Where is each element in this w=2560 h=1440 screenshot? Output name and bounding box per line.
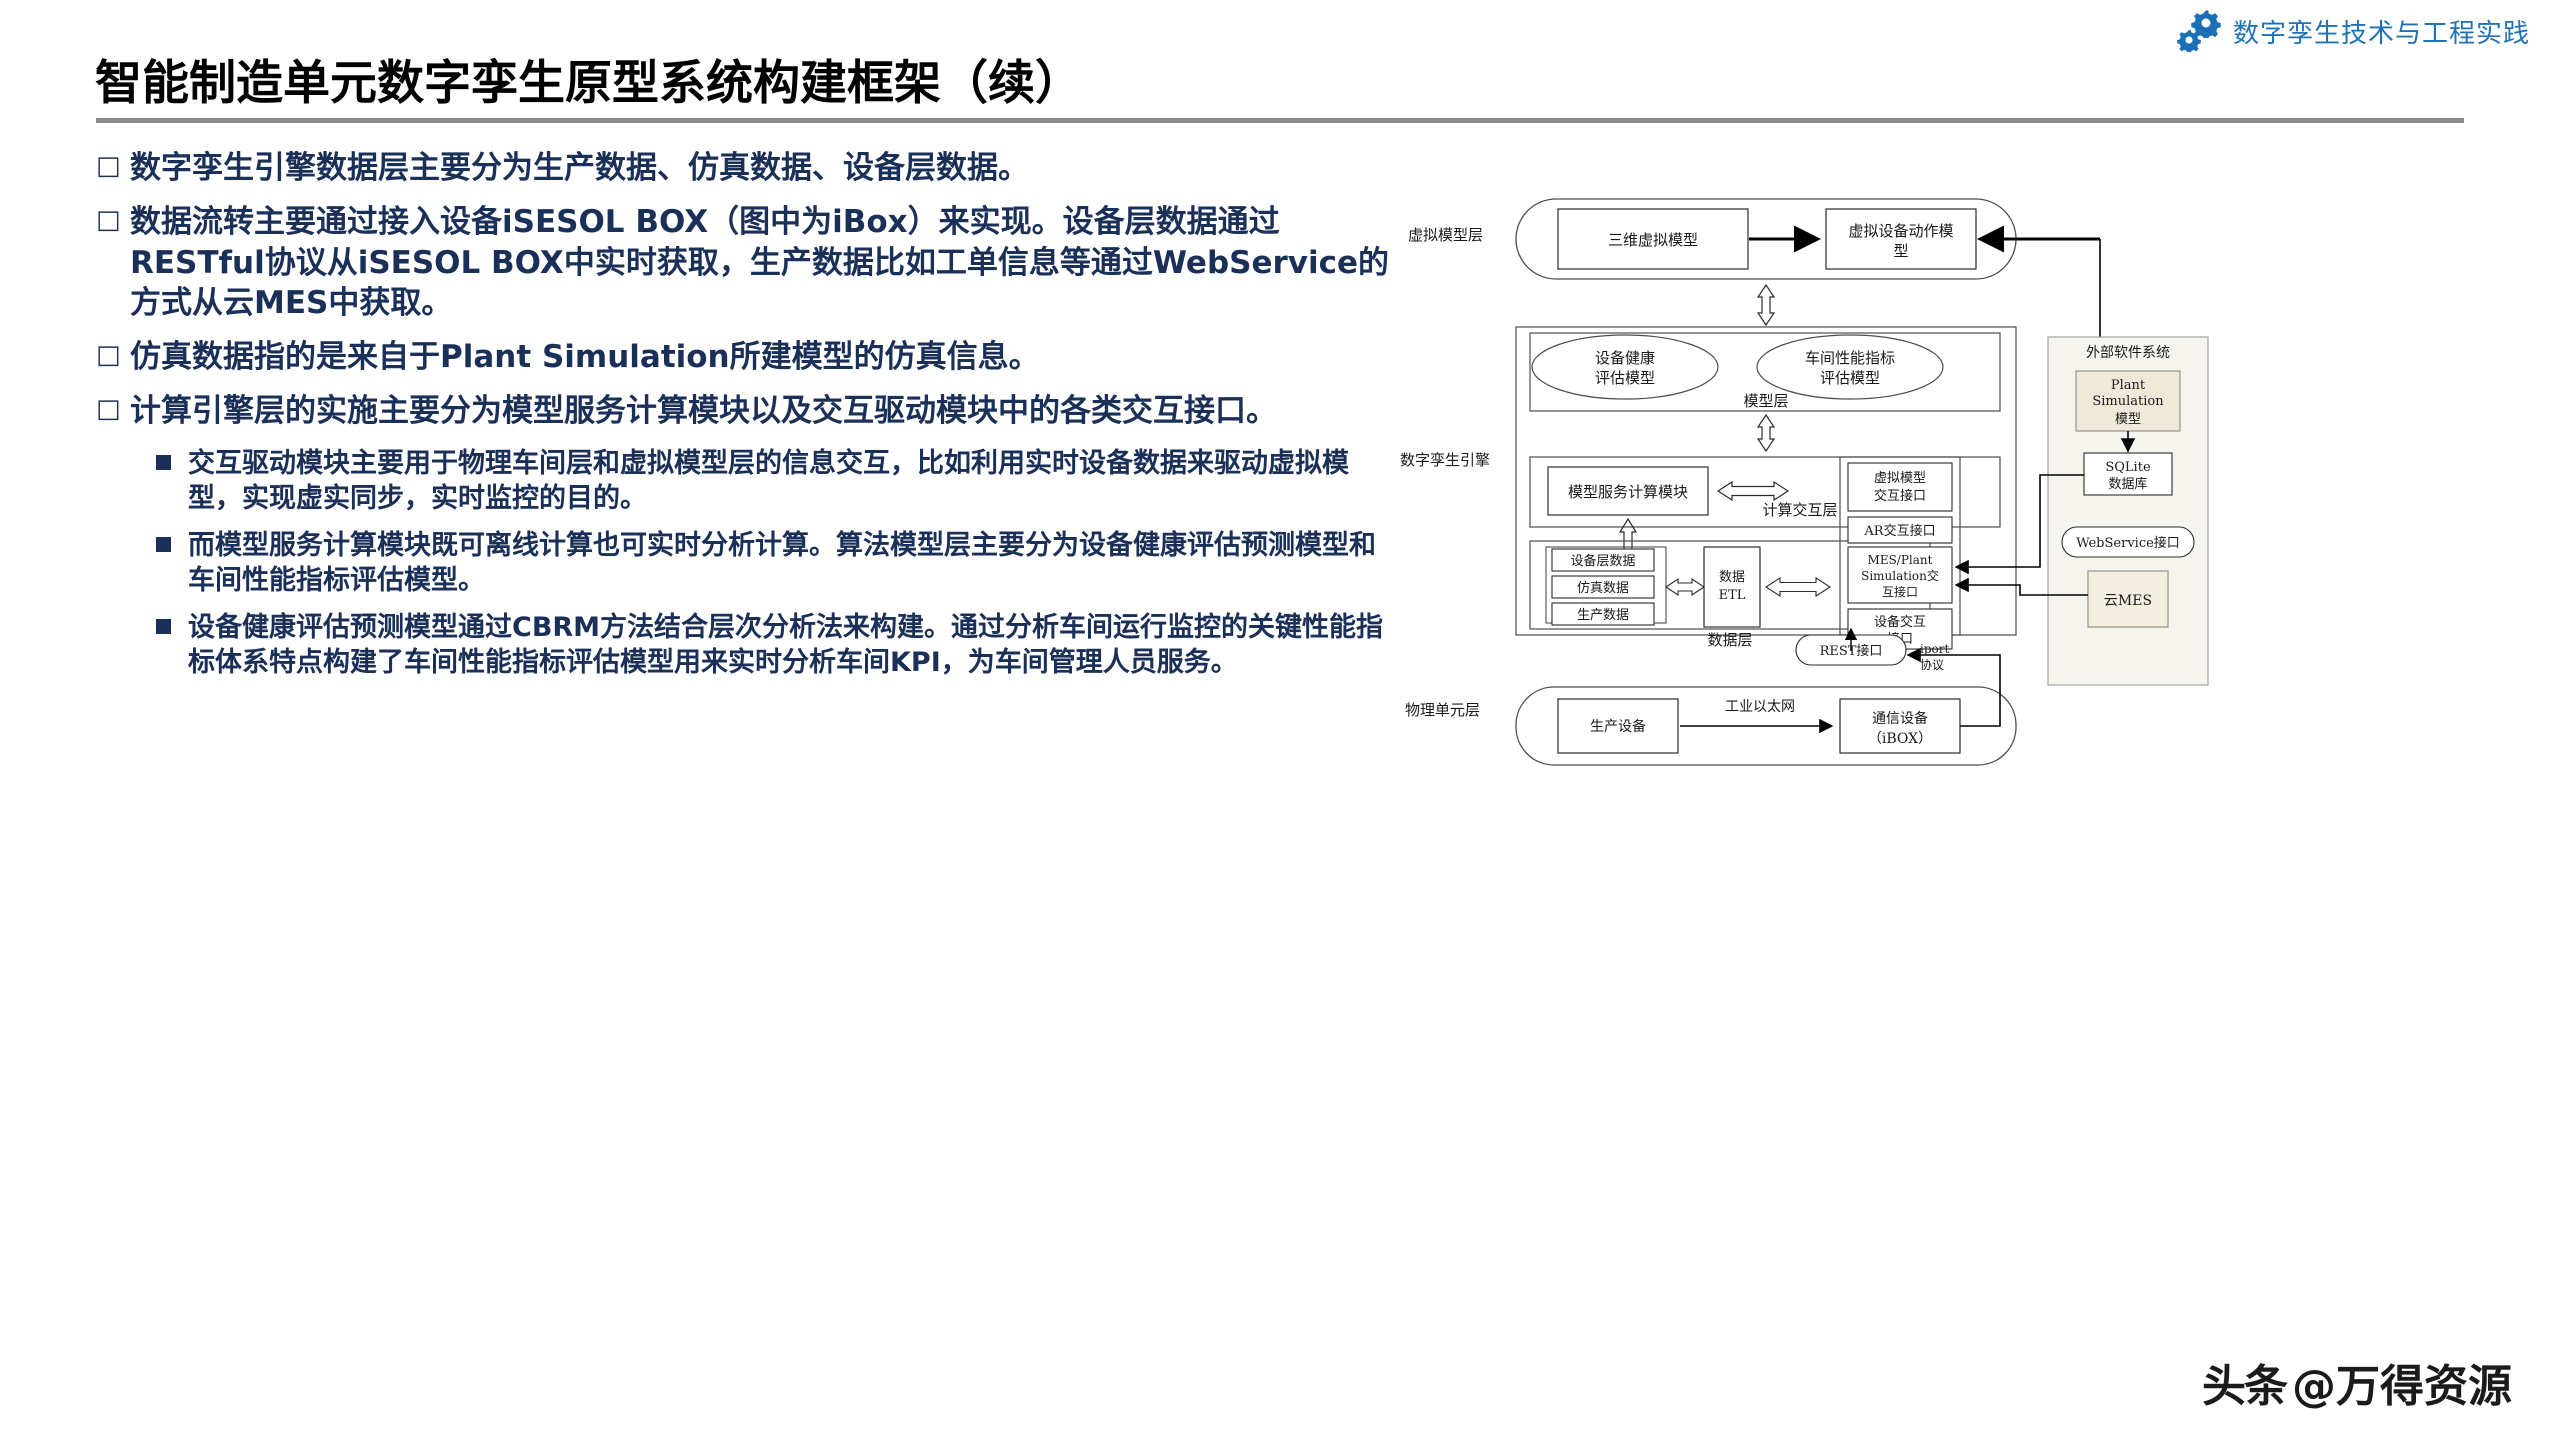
sub-bullet-marker-filled-square-icon xyxy=(156,446,188,470)
title-divider xyxy=(96,118,2464,123)
iport-protocol-label-l1: iport xyxy=(1920,642,1949,656)
architecture-diagram: 虚拟模型层 数字孪生引擎 物理单元层 三维虚拟模型 虚拟设备动作模 型 设备健康… xyxy=(1400,175,2530,795)
box-communication-device-l1: 通信设备 xyxy=(1872,710,1928,727)
box-virtual-model-interface-l1: 虚拟模型 xyxy=(1874,471,1926,486)
arrow-data-to-etl xyxy=(1666,579,1704,595)
box-mes-plantsim-interface-l2: Simulation交 xyxy=(1861,568,1939,583)
ellipse-workshop-kpi-model-l2: 评估模型 xyxy=(1820,369,1880,387)
bullet-item: □ 仿真数据指的是来自于Plant Simulation所建模型的仿真信息。 xyxy=(96,337,1396,377)
gear-icon xyxy=(2177,8,2223,54)
arrow-compute-to-interfaces xyxy=(1718,482,1788,500)
box-cloud-mes-label: 云MES xyxy=(2104,593,2152,609)
box-communication-device-l2: （iBOX） xyxy=(1868,731,1932,747)
box-plant-simulation-model-l1: Plant xyxy=(2111,378,2146,393)
sub-bullet-item: 设备健康评估预测模型通过CBRM方法结合层次分析法来构建。通过分析车间运行监控的… xyxy=(156,610,1396,680)
box-simulation-data-label: 仿真数据 xyxy=(1577,581,1629,596)
box-data-etl-l1: 数据 xyxy=(1719,570,1745,585)
sub-bullet-item: 而模型服务计算模块既可离线计算也可实时分析计算。算法模型层主要分为设备健康评估预… xyxy=(156,528,1396,598)
arrow-etl-to-interfaces xyxy=(1766,578,1830,596)
box-virtual-device-action-model-label-l1: 虚拟设备动作模 xyxy=(1848,222,1953,240)
connector-double-arrow xyxy=(1758,415,1774,451)
bullet-item: □ 计算引擎层的实施主要分为模型服务计算模块以及交互驱动模块中的各类交互接口。 xyxy=(96,391,1396,431)
sub-bullet-marker-filled-square-icon xyxy=(156,528,188,552)
box-device-layer-data-label: 设备层数据 xyxy=(1570,553,1635,569)
sub-bullet-text: 交互驱动模块主要用于物理车间层和虚拟模型层的信息交互，比如利用实时设备数据来驱动… xyxy=(188,446,1396,516)
box-production-equipment-label: 生产设备 xyxy=(1590,718,1646,735)
watermark-logo: 头条 xyxy=(2202,1350,2286,1414)
bullet-marker-hollow-square-icon: □ xyxy=(96,202,130,240)
box-sqlite-database-l2: 数据库 xyxy=(2108,476,2147,492)
box-virtual-device-action-model-label-l2: 型 xyxy=(1893,242,1908,260)
watermark-text: @万得资源 xyxy=(2292,1350,2512,1414)
bullet-item: □ 数据流转主要通过接入设备iSESOL BOX（图中为iBox）来实现。设备层… xyxy=(96,202,1396,323)
bullet-item: □ 数字孪生引擎数据层主要分为生产数据、仿真数据、设备层数据。 xyxy=(96,148,1396,188)
sub-bullet-text: 而模型服务计算模块既可离线计算也可实时分析计算。算法模型层主要分为设备健康评估预… xyxy=(188,528,1396,598)
bullet-marker-hollow-square-icon: □ xyxy=(96,391,130,429)
ellipse-workshop-kpi-model-l1: 车间性能指标 xyxy=(1805,349,1895,367)
box-plant-simulation-model-l2: Simulation xyxy=(2092,394,2164,409)
label-virtual-model-layer: 虚拟模型层 xyxy=(1408,226,1483,244)
external-system-title: 外部软件系统 xyxy=(2086,345,2170,361)
box-data-etl xyxy=(1704,547,1760,627)
brand-title: 数字孪生技术与工程实践 xyxy=(2233,13,2530,50)
box-device-interface-l1: 设备交互 xyxy=(1874,614,1926,630)
bullet-marker-hollow-square-icon: □ xyxy=(96,337,130,375)
box-model-service-compute-module-label: 模型服务计算模块 xyxy=(1568,483,1688,501)
label-digital-twin-engine: 数字孪生引擎 xyxy=(1400,451,1490,469)
bullet-text: 计算引擎层的实施主要分为模型服务计算模块以及交互驱动模块中的各类交互接口。 xyxy=(130,391,1396,431)
box-ar-interface-label: AR交互接口 xyxy=(1863,523,1935,539)
iport-protocol-label-l2: 协议 xyxy=(1920,657,1944,672)
model-layer-label: 模型层 xyxy=(1743,392,1788,410)
bullet-text: 数字孪生引擎数据层主要分为生产数据、仿真数据、设备层数据。 xyxy=(130,148,1396,188)
box-sqlite-database-l1: SQLite xyxy=(2105,460,2151,475)
page-title: 智能制造单元数字孪生原型系统构建框架（续） xyxy=(95,44,1082,113)
sub-bullet-item: 交互驱动模块主要用于物理车间层和虚拟模型层的信息交互，比如利用实时设备数据来驱动… xyxy=(156,446,1396,516)
box-data-etl-l2: ETL xyxy=(1719,588,1746,603)
watermark: 头条 @万得资源 xyxy=(2202,1350,2512,1414)
ellipse-device-health-model xyxy=(1532,335,1718,399)
sub-bullet-text: 设备健康评估预测模型通过CBRM方法结合层次分析法来构建。通过分析车间运行监控的… xyxy=(188,610,1396,680)
connector-double-arrow xyxy=(1758,285,1774,325)
industrial-ethernet-label: 工业以太网 xyxy=(1725,699,1795,715)
box-mes-plantsim-interface-l3: 互接口 xyxy=(1882,584,1918,599)
ellipse-device-health-model-l1: 设备健康 xyxy=(1595,349,1655,367)
compute-interaction-layer-label: 计算交互层 xyxy=(1762,501,1837,519)
label-physical-unit-layer: 物理单元层 xyxy=(1405,701,1480,719)
content-bullet-list: □ 数字孪生引擎数据层主要分为生产数据、仿真数据、设备层数据。 □ 数据流转主要… xyxy=(96,148,1396,692)
box-webservice-interface-label: WebService接口 xyxy=(2076,535,2180,551)
bullet-text: 数据流转主要通过接入设备iSESOL BOX（图中为iBox）来实现。设备层数据… xyxy=(130,202,1396,323)
box-mes-plantsim-interface-l1: MES/Plant xyxy=(1868,553,1933,567)
bullet-text: 仿真数据指的是来自于Plant Simulation所建模型的仿真信息。 xyxy=(130,337,1396,377)
ellipse-device-health-model-l2: 评估模型 xyxy=(1595,369,1655,387)
ellipse-workshop-kpi-model xyxy=(1757,335,1943,399)
sub-bullet-marker-filled-square-icon xyxy=(156,610,188,634)
box-production-data-label: 生产数据 xyxy=(1577,608,1629,623)
bullet-marker-hollow-square-icon: □ xyxy=(96,148,130,186)
box-3d-virtual-model-label: 三维虚拟模型 xyxy=(1608,231,1698,249)
brand-header: 数字孪生技术与工程实践 xyxy=(2177,8,2530,54)
box-plant-simulation-model-l3: 模型 xyxy=(2115,412,2141,427)
sub-bullet-list: 交互驱动模块主要用于物理车间层和虚拟模型层的信息交互，比如利用实时设备数据来驱动… xyxy=(156,446,1396,681)
data-layer-label: 数据层 xyxy=(1707,631,1752,649)
box-virtual-model-interface-l2: 交互接口 xyxy=(1874,488,1926,504)
